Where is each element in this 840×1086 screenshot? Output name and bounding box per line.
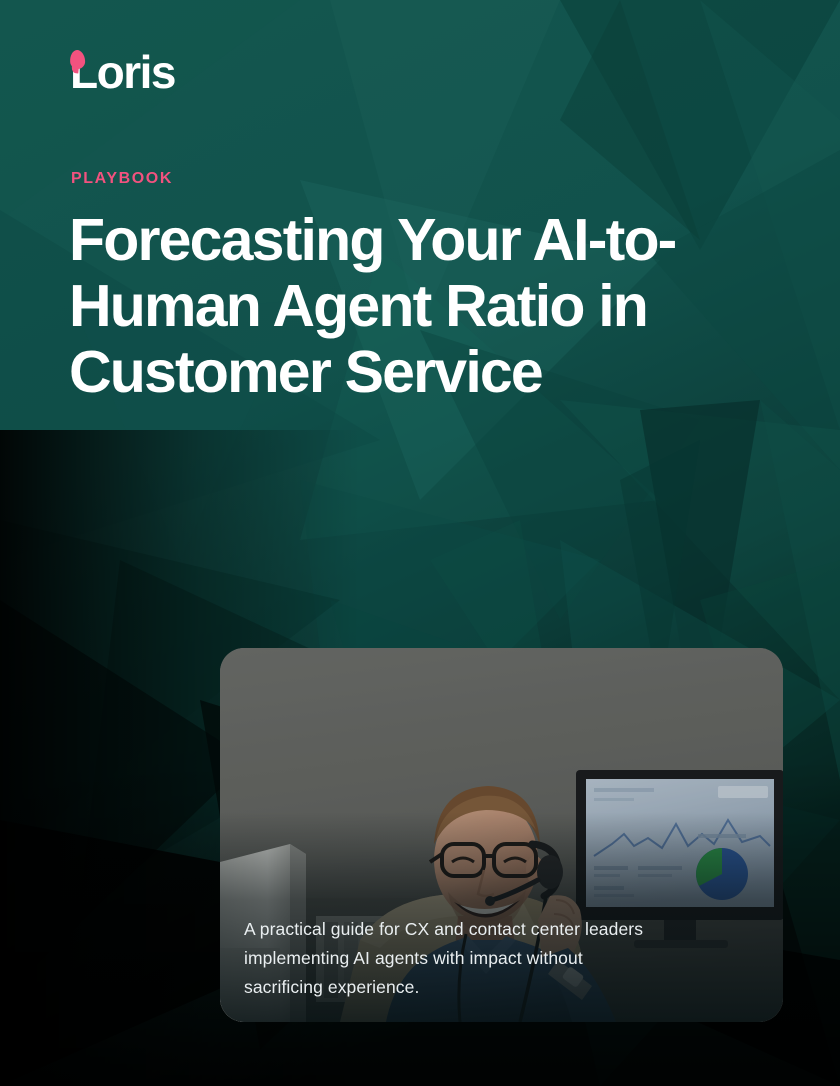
cover-photo-card: A practical guide for CX and contact cen… (220, 648, 783, 1022)
headline-line-1: Forecasting Your AI-to- (69, 207, 729, 273)
caption-line-1: A practical guide for CX and contact cen… (244, 915, 744, 944)
document-type-label: PLAYBOOK (71, 170, 173, 188)
headline-line-3: Customer Service (69, 339, 729, 405)
caption-line-3: sacrificing experience. (244, 973, 744, 1002)
cover-page: Loris PLAYBOOK Forecasting Your AI-to- H… (0, 0, 840, 1086)
brand-logo[interactable]: Loris (70, 47, 175, 97)
cover-subtitle: A practical guide for CX and contact cen… (244, 915, 744, 1002)
caption-line-2: implementing AI agents with impact witho… (244, 944, 744, 973)
brand-logo-text: Loris (70, 46, 175, 98)
headline-line-2: Human Agent Ratio in (69, 273, 729, 339)
page-title: Forecasting Your AI-to- Human Agent Rati… (69, 207, 729, 405)
